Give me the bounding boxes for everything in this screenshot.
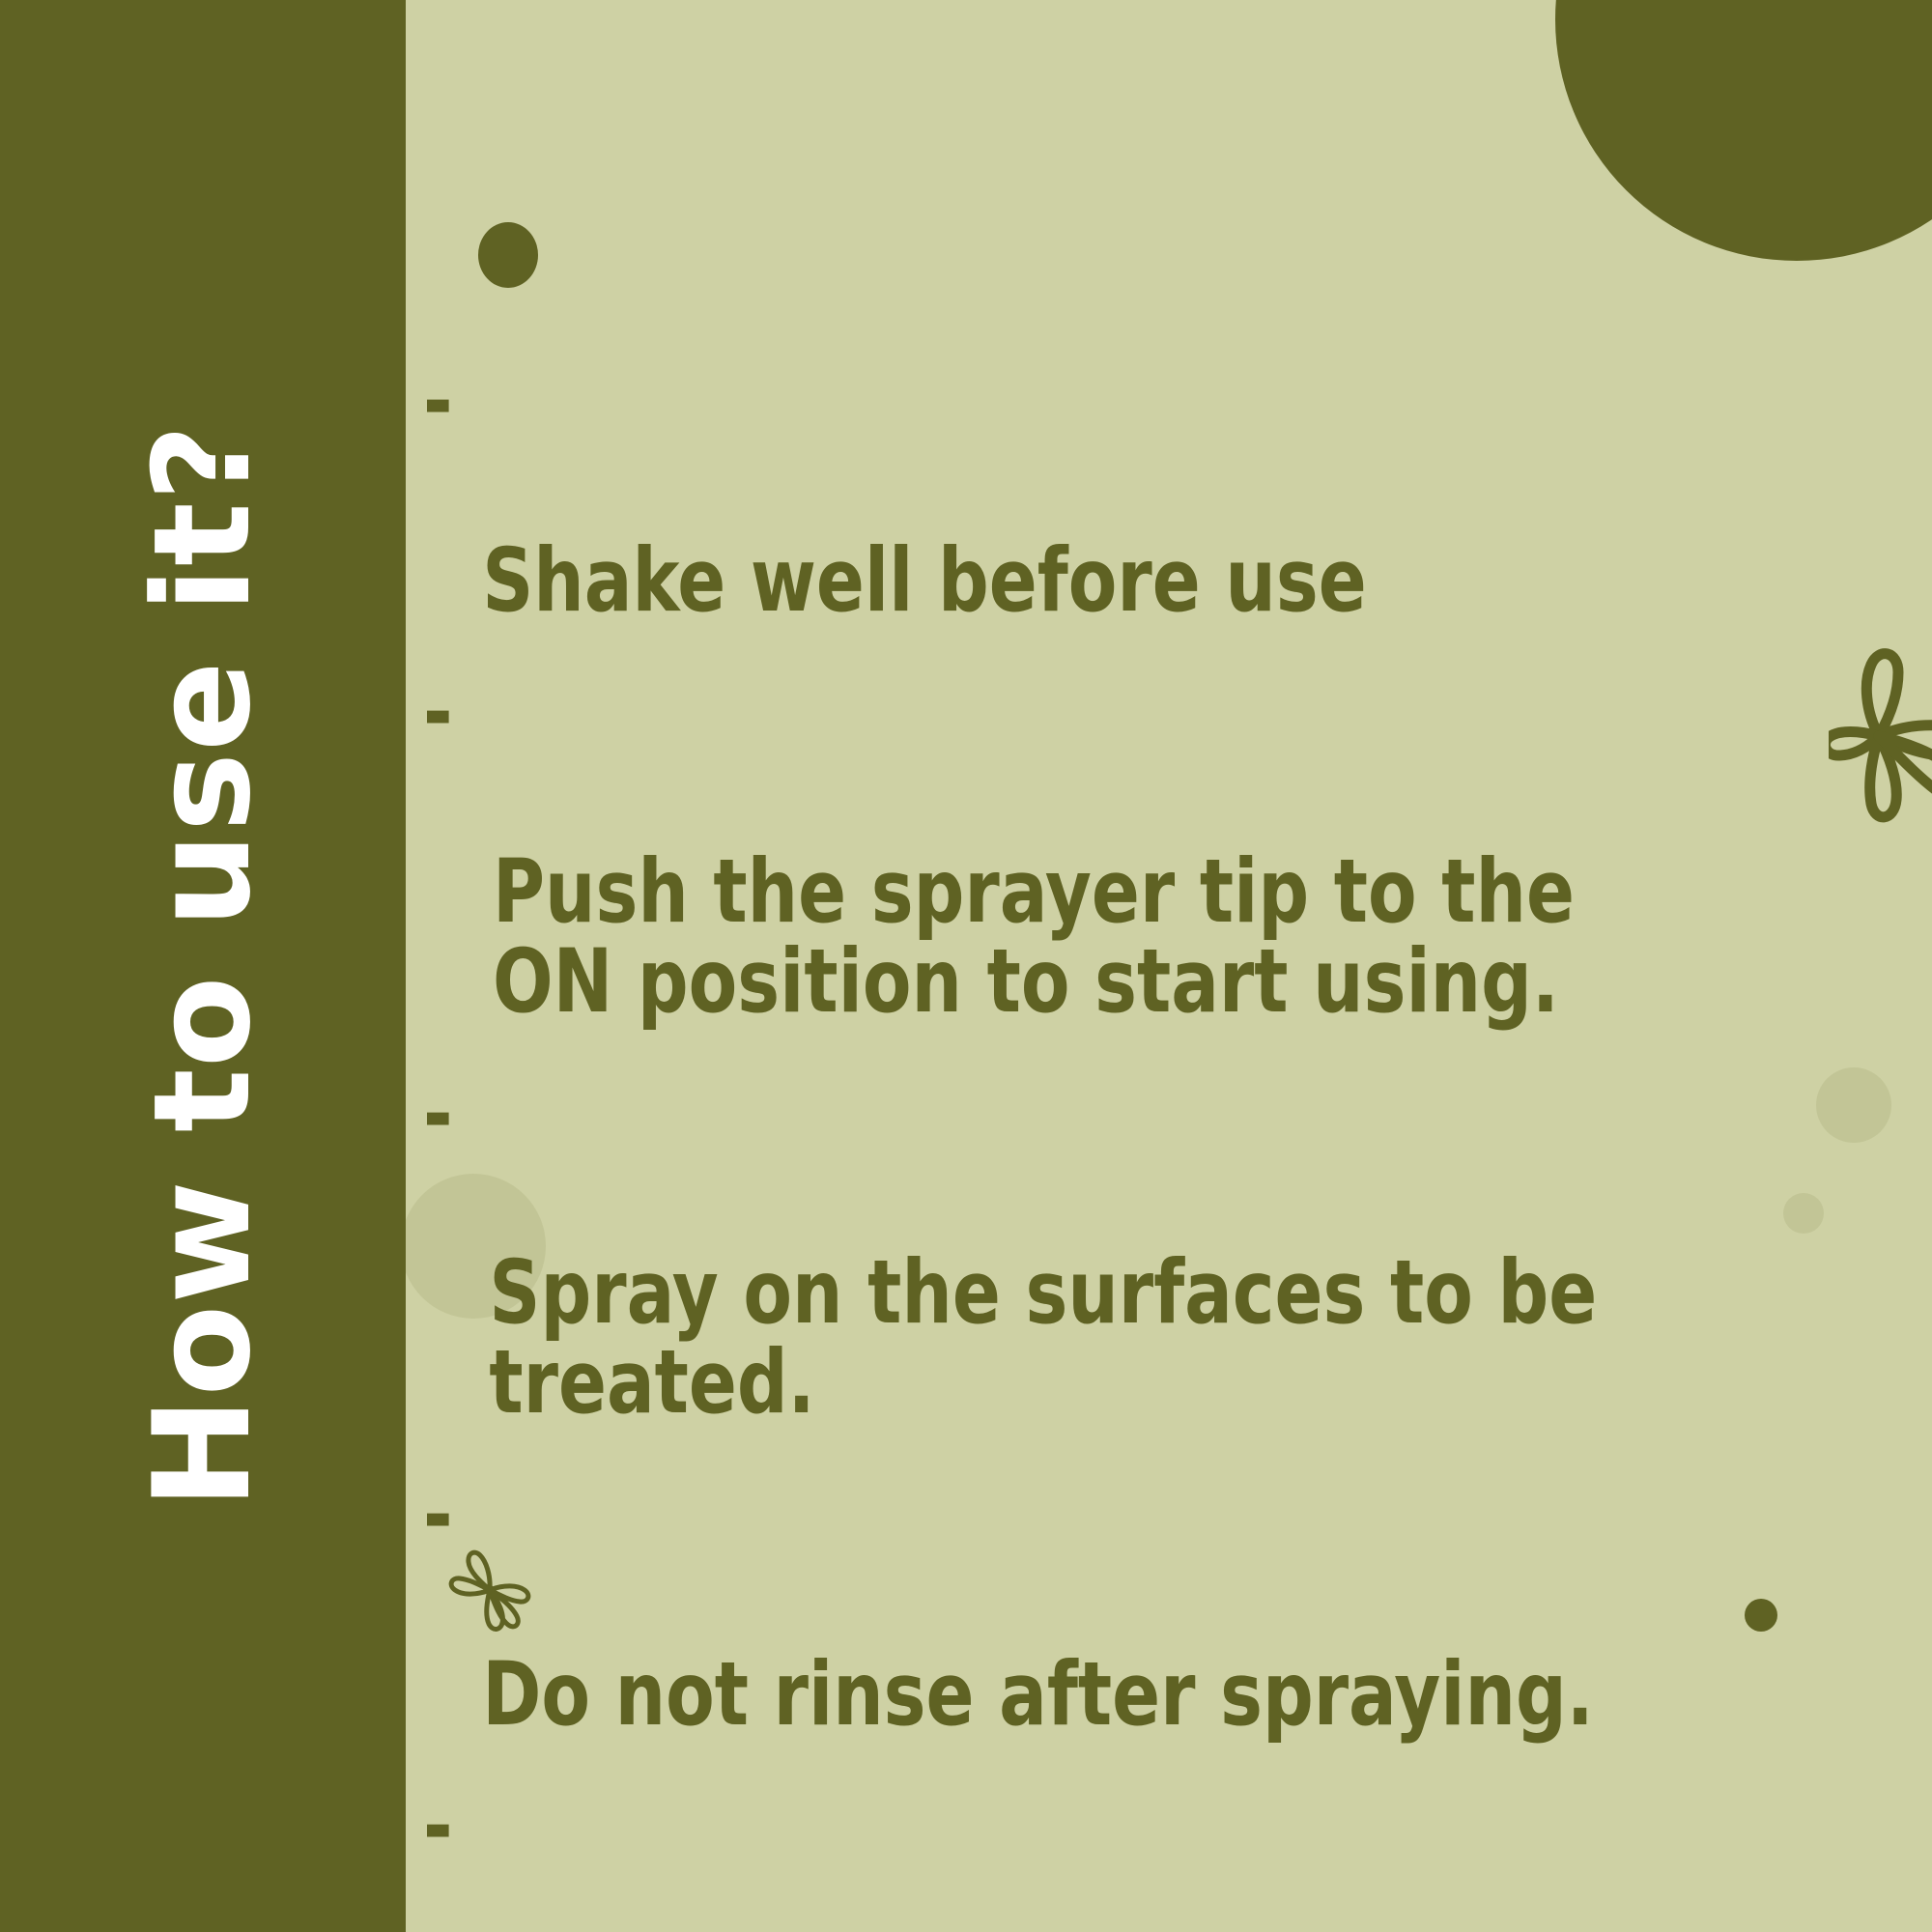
page-title: How to use it? <box>136 423 270 1509</box>
list-item: - Shake well before use <box>406 357 1779 626</box>
dash-marker: - <box>423 1782 453 1872</box>
list-item-label: Spray on the surfaces to be treated. <box>489 1242 1597 1434</box>
content-panel: - Shake well before use - Push the spray… <box>406 0 1932 1932</box>
list-item-label: Shake well before use <box>482 530 1366 632</box>
list-item-label: Do not rinse after spraying. <box>482 1644 1594 1746</box>
dash-marker: - <box>423 357 453 447</box>
title-container: How to use it? <box>0 0 406 1932</box>
list-item: - Push the sprayer tip to the OFF positi… <box>406 1782 1779 1932</box>
dash-marker: - <box>423 668 453 758</box>
sidebar-panel: How to use it? <box>0 0 406 1932</box>
list-item: - Spray on the surfaces to be treated. <box>406 1070 1779 1429</box>
poster-canvas: How to use it? - Shake well before use -… <box>0 0 1932 1932</box>
dash-marker: - <box>423 1471 453 1561</box>
list-item-label: Push the sprayer tip to the ON position … <box>493 841 1575 1033</box>
dash-marker: - <box>423 1070 453 1160</box>
instruction-list: - Shake well before use - Push the spray… <box>406 357 1932 1932</box>
list-item: - Push the sprayer tip to the ON positio… <box>406 668 1779 1027</box>
list-item: - Do not rinse after spraying. <box>406 1471 1779 1740</box>
lead-bullet-icon <box>478 222 538 288</box>
